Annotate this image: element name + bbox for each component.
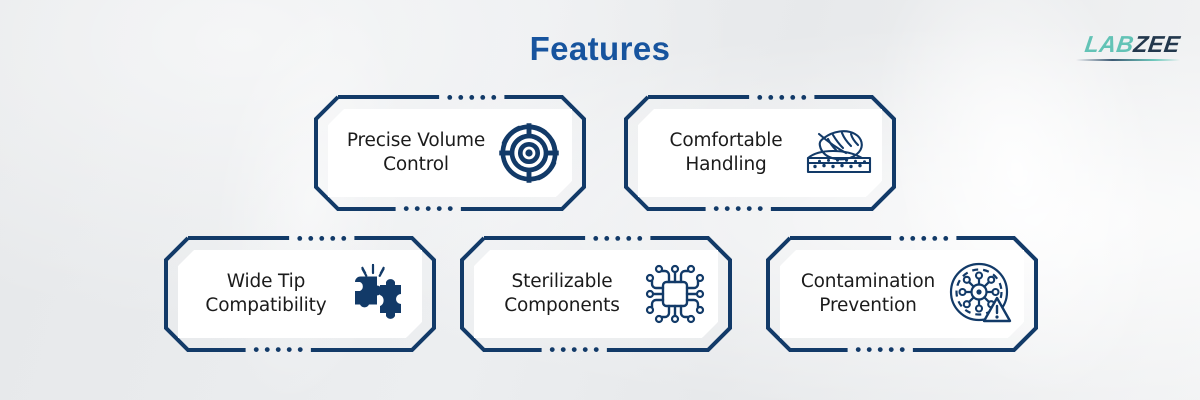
logo-wordmark: LABZEE xyxy=(1083,33,1181,56)
card-label: Wide Tip Compatibility xyxy=(190,270,342,317)
card-label: Sterilizable Components xyxy=(486,270,638,317)
card-label-line2: Compatibility xyxy=(205,295,326,316)
card-content: Contamination Prevention xyxy=(766,236,1038,352)
card-label: Contamination Prevention xyxy=(792,270,944,317)
card-label: Comfortable Handling xyxy=(650,129,802,176)
virus-warning-icon xyxy=(944,257,1018,331)
feature-banner: Features LABZEE Precise Volume Control xyxy=(0,0,1200,400)
card-label-line2: Control xyxy=(383,154,449,175)
card-content: Comfortable Handling xyxy=(624,95,896,211)
card-label: Precise Volume Control xyxy=(340,129,492,176)
card-label-line1: Precise Volume xyxy=(347,130,485,151)
feature-card[interactable]: Contamination Prevention xyxy=(766,236,1038,352)
card-label-line2: Prevention xyxy=(819,295,916,316)
card-label-line1: Contamination xyxy=(801,271,935,292)
card-content: Precise Volume Control xyxy=(314,95,586,211)
card-label-line2: Handling xyxy=(685,154,766,175)
card-content: Wide Tip Compatibility xyxy=(164,236,436,352)
card-label-line1: Wide Tip xyxy=(227,271,305,292)
card-label-line1: Sterilizable xyxy=(512,271,613,292)
target-crosshair-icon xyxy=(492,116,566,190)
feature-card[interactable]: Precise Volume Control xyxy=(314,95,586,211)
puzzle-pieces-icon xyxy=(342,257,416,331)
card-label-line2: Components xyxy=(504,295,620,316)
logo-underline xyxy=(1076,59,1180,61)
logo-text-zee: ZEE xyxy=(1132,31,1182,57)
page-title: Features xyxy=(0,30,1200,68)
feature-card[interactable]: Wide Tip Compatibility xyxy=(164,236,436,352)
card-content: Sterilizable Components xyxy=(460,236,732,352)
feature-card[interactable]: Comfortable Handling xyxy=(624,95,896,211)
labzee-logo: LABZEE xyxy=(1076,33,1180,61)
logo-text-lab: LAB xyxy=(1083,31,1135,57)
microchip-icon xyxy=(638,257,712,331)
feature-card[interactable]: Sterilizable Components xyxy=(460,236,732,352)
card-label-line1: Comfortable xyxy=(670,130,783,151)
feather-on-cushion-icon xyxy=(802,116,876,190)
